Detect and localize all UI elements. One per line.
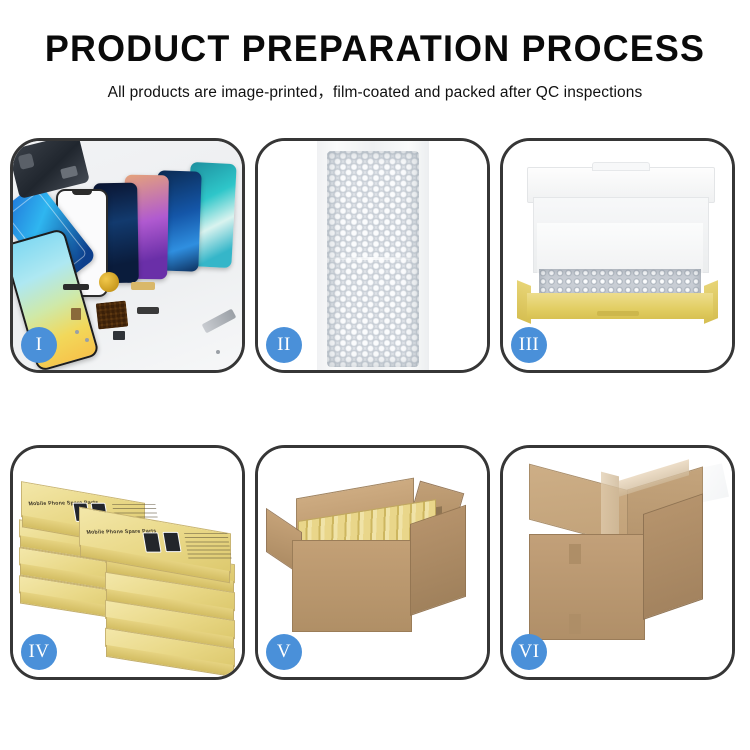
box-tab-icon: [597, 311, 639, 316]
steps-grid: I II III: [10, 138, 740, 680]
step-badge-3: III: [511, 327, 547, 363]
step-panel-4[interactable]: Mobile Phone Spare Parts Mobile Phone Sp…: [10, 445, 245, 680]
box-screen-graphic: [162, 532, 181, 552]
step-panel-5[interactable]: V: [255, 445, 490, 680]
box-spec-lines: [184, 533, 232, 559]
product-preparation-infographic: PRODUCT PREPARATION PROCESS All products…: [0, 0, 750, 750]
box-label-text: Mobile Phone Spare Parts: [28, 500, 99, 507]
step-badge-4: IV: [21, 634, 57, 670]
screw-icon: [216, 350, 220, 354]
carton-seam-mark-icon: [569, 614, 581, 634]
page-subtitle: All products are image-printed，film-coat…: [0, 80, 750, 102]
page-title: PRODUCT PREPARATION PROCESS: [11, 30, 739, 67]
screw-icon: [75, 330, 79, 334]
chip-array-icon: [96, 301, 129, 330]
earpiece-part-icon: [63, 284, 89, 290]
carton-front-panel-icon: [292, 540, 412, 632]
step-panel-3[interactable]: III: [500, 138, 735, 373]
foam-sheet-icon: [537, 223, 703, 273]
carton-seam-mark-icon: [569, 544, 581, 564]
flex-cable-icon: [131, 282, 155, 290]
tweezers-icon: [202, 309, 237, 334]
flex-cable-2-icon: [137, 307, 159, 314]
step-panel-6[interactable]: VI: [500, 445, 735, 680]
small-part-icon: [71, 308, 81, 320]
small-part-icon: [113, 331, 125, 340]
speaker-coil-icon: [99, 272, 119, 292]
step-panel-2[interactable]: II: [255, 138, 490, 373]
step-badge-6: VI: [511, 634, 547, 670]
box-screen-graphic: [142, 532, 161, 552]
step-badge-2: II: [266, 327, 302, 363]
step-badge-1: I: [21, 327, 57, 363]
step-panel-1[interactable]: I: [10, 138, 245, 373]
box-stack-icon: Mobile Phone Spare Parts Mobile Phone Sp…: [19, 470, 242, 666]
carton-side-panel-icon: [643, 493, 703, 620]
bubble-wrap-icon: [327, 151, 419, 367]
step-badge-5: V: [266, 634, 302, 670]
carton-side-panel-icon: [410, 505, 466, 616]
header: PRODUCT PREPARATION PROCESS All products…: [0, 0, 750, 102]
screw-icon: [85, 338, 89, 342]
carton-front-panel-icon: [529, 534, 645, 640]
